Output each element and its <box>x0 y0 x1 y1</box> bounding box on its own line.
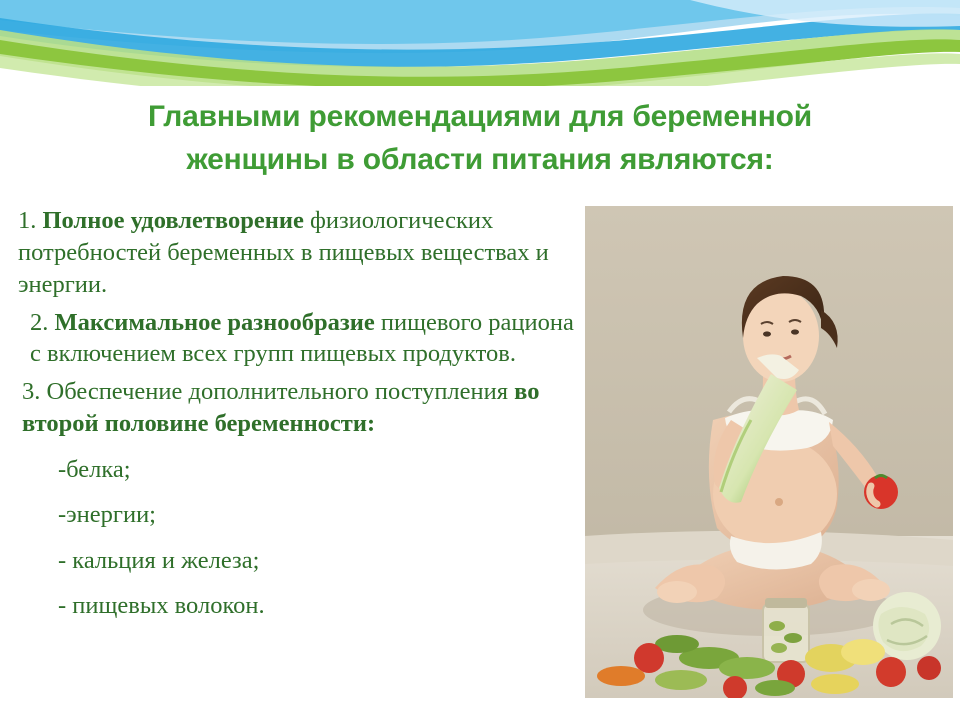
body-content: 1. Полное удовлетворение физиологических… <box>10 205 585 621</box>
sub-list-item: - пищевых волокон. <box>10 590 585 621</box>
list-item-number: 2. <box>30 309 48 336</box>
slide-title-line-1: Главными рекомендациями для беременной <box>30 96 930 139</box>
slide-title: Главными рекомендациями для беременной ж… <box>30 96 930 181</box>
list-item-number: 3. <box>22 378 40 405</box>
sub-list-item: -белка; <box>10 454 585 485</box>
list-item: 2. Максимальное разнообразие пищевого ра… <box>10 307 585 371</box>
list-item-bold-text: Полное удовлетворение <box>43 207 304 234</box>
sub-list-item: - кальция и железа; <box>10 545 585 576</box>
list-item-text: Обеспечение дополнительного поступления <box>47 378 515 405</box>
slide: Главными рекомендациями для беременной ж… <box>0 0 960 720</box>
list-item: 1. Полное удовлетворение физиологических… <box>10 205 585 301</box>
list-item-number: 1. <box>18 207 36 234</box>
decorative-banner <box>0 0 960 86</box>
sub-list-item: -энергии; <box>10 499 585 530</box>
pregnant-woman-photo <box>585 206 953 698</box>
slide-title-line-2: женщины в области питания являются: <box>30 139 930 182</box>
list-item-bold-text: Максимальное разнообразие <box>55 309 375 336</box>
list-item: 3. Обеспечение дополнительного поступлен… <box>10 376 585 440</box>
